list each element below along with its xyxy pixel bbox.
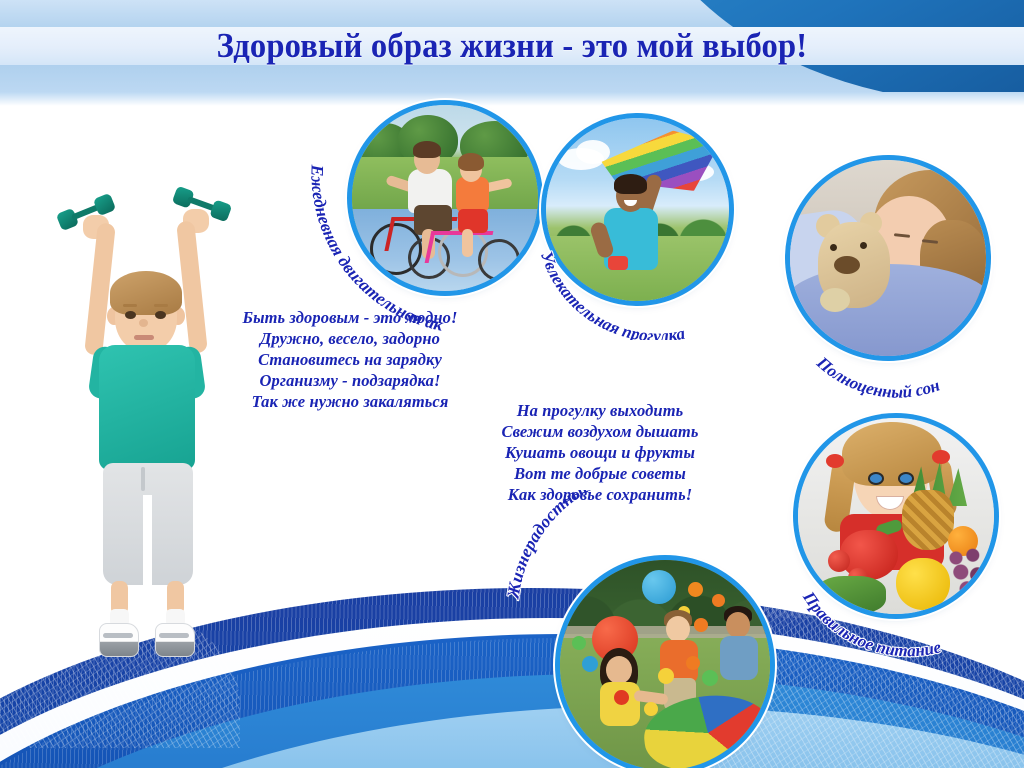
teddy-snout <box>834 256 860 274</box>
grapes <box>944 544 992 600</box>
girl-shorts <box>458 209 488 233</box>
hair-bow-right <box>932 450 950 464</box>
teddy-paw <box>820 288 850 312</box>
sleep-photo-content <box>790 160 986 356</box>
photo-circle-healthy-eating[interactable] <box>798 418 994 614</box>
child-head <box>606 656 632 684</box>
cloud-icon <box>576 140 610 164</box>
kite-photo-content <box>546 118 729 301</box>
teddy-eye-right <box>860 242 867 249</box>
photo-circle-full-sleep[interactable] <box>790 160 986 356</box>
boy-eye-left <box>125 311 136 319</box>
tomato <box>828 550 850 572</box>
girl-vest <box>456 177 489 213</box>
child-shirt-blue <box>720 636 758 680</box>
header-bottom-fade <box>0 92 1024 106</box>
boy-eyebrow-left <box>123 304 137 307</box>
games-photo-content <box>560 560 770 768</box>
boy-nose <box>139 319 148 327</box>
boy-sneaker-left <box>99 623 139 657</box>
boy-sneaker-right <box>155 623 195 657</box>
ball-icon <box>614 690 629 705</box>
ball-icon <box>644 702 658 716</box>
boy-pants-gap <box>143 495 152 587</box>
ball-icon <box>694 618 708 632</box>
ball-icon <box>658 668 674 684</box>
poem-center: На прогулку выходить Свежим воздухом дыш… <box>470 400 730 505</box>
yellow-bell-pepper <box>896 558 950 610</box>
girl-eye-left <box>868 472 884 485</box>
ball-icon <box>582 656 598 672</box>
boy-mouth <box>134 335 154 340</box>
bike-photo-content <box>352 105 538 291</box>
boy-eye-right <box>155 311 166 319</box>
boy-eyebrow-right <box>154 304 168 307</box>
ball-icon <box>572 636 586 650</box>
photo-circle-cheerful-mood[interactable] <box>560 560 770 768</box>
teddy-eye-left <box>830 244 837 251</box>
food-photo-content <box>798 418 994 614</box>
child-head <box>726 612 750 638</box>
boy-tshirt <box>99 345 195 470</box>
girl-eye-right <box>898 472 914 485</box>
poem-left: Быть здоровым - это модно! Дружно, весел… <box>215 307 485 412</box>
boy-hair <box>614 174 647 194</box>
kite-reel <box>608 256 628 270</box>
boy-with-dumbbells-figure <box>55 195 245 695</box>
girl-leg <box>462 229 473 257</box>
ball-icon <box>642 570 676 604</box>
boy-hair <box>110 271 182 315</box>
child-head <box>666 616 690 642</box>
poster-canvas: Здоровый образ жизни - это мой выбор! <box>0 0 1024 768</box>
girl-hair <box>842 422 942 486</box>
boy-drawstring <box>141 467 145 491</box>
father-hair <box>413 141 441 158</box>
pineapple <box>902 490 954 550</box>
boy-sneaker-strap-left <box>103 633 133 638</box>
hair-bow-left <box>826 454 844 468</box>
ball-icon <box>712 594 725 607</box>
ball-icon <box>688 582 703 597</box>
boy-sneaker-strap-right <box>159 633 189 638</box>
girl-hair <box>458 153 484 171</box>
ball-icon <box>702 670 718 686</box>
pink-bicycle-frame <box>425 231 494 263</box>
photo-circle-daily-activity[interactable] <box>352 105 538 291</box>
photo-circle-fun-walk[interactable] <box>546 118 729 301</box>
poster-title: Здоровый образ жизни - это мой выбор! <box>36 23 988 69</box>
wave-band-4 <box>0 706 1024 768</box>
ball-icon <box>686 656 700 670</box>
green-vegetables <box>816 576 886 614</box>
label-full-sleep: Полноценный сон <box>812 352 942 401</box>
